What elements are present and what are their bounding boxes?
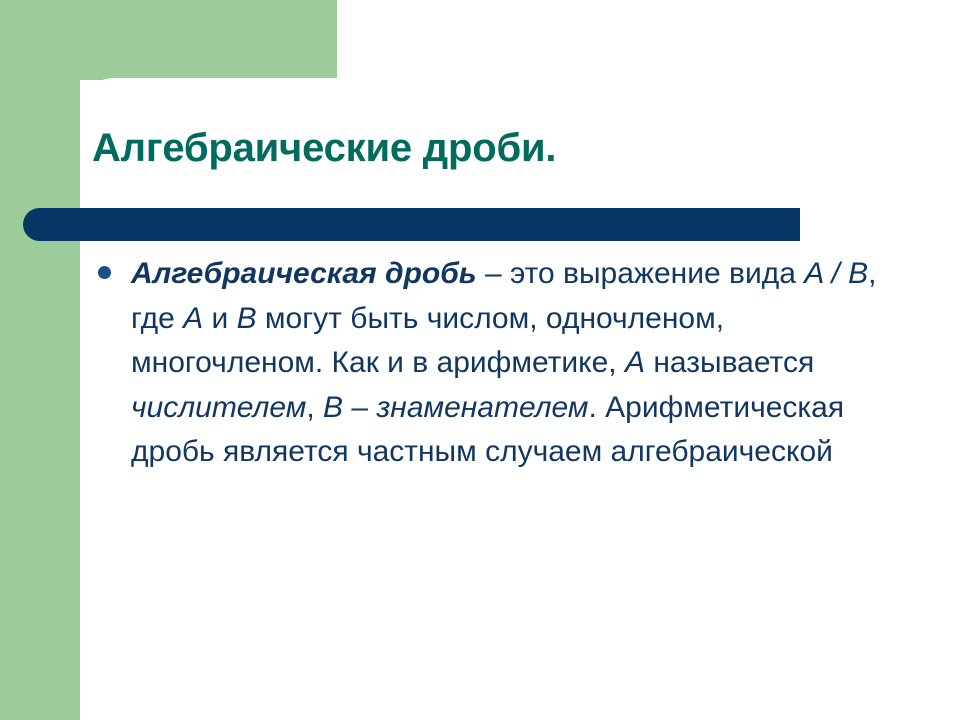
slide-body: Алгебраическая дробь – это выражение вид… <box>98 252 918 475</box>
green-left-strip-decoration <box>0 0 80 720</box>
variable-a-first: A <box>183 302 203 335</box>
page-title: Алгебраические дроби. <box>92 126 892 171</box>
term-numerator: числителем <box>131 391 306 424</box>
body-fragment-3: и <box>203 302 236 335</box>
term-denominator: B – знаменателем <box>323 391 588 424</box>
expression-a-over-b: A / B <box>804 257 868 290</box>
list-item-text: Алгебраическая дробь – это выражение вид… <box>131 252 918 475</box>
body-fragment-5: называется <box>645 346 814 379</box>
variable-a-second: A <box>625 346 645 379</box>
body-fragment-6: , <box>306 391 323 424</box>
title-divider-bar <box>23 208 800 241</box>
bullet-dot-icon <box>98 266 111 279</box>
presentation-slide: Алгебраические дроби. Алгебраическая дро… <box>0 0 960 720</box>
definition-term: Алгебраическая дробь <box>131 257 477 290</box>
variable-b-first: B <box>237 302 257 335</box>
list-item: Алгебраическая дробь – это выражение вид… <box>98 252 918 475</box>
green-top-block-decoration <box>0 0 337 80</box>
body-fragment-1: – это выражение вида <box>477 257 805 290</box>
